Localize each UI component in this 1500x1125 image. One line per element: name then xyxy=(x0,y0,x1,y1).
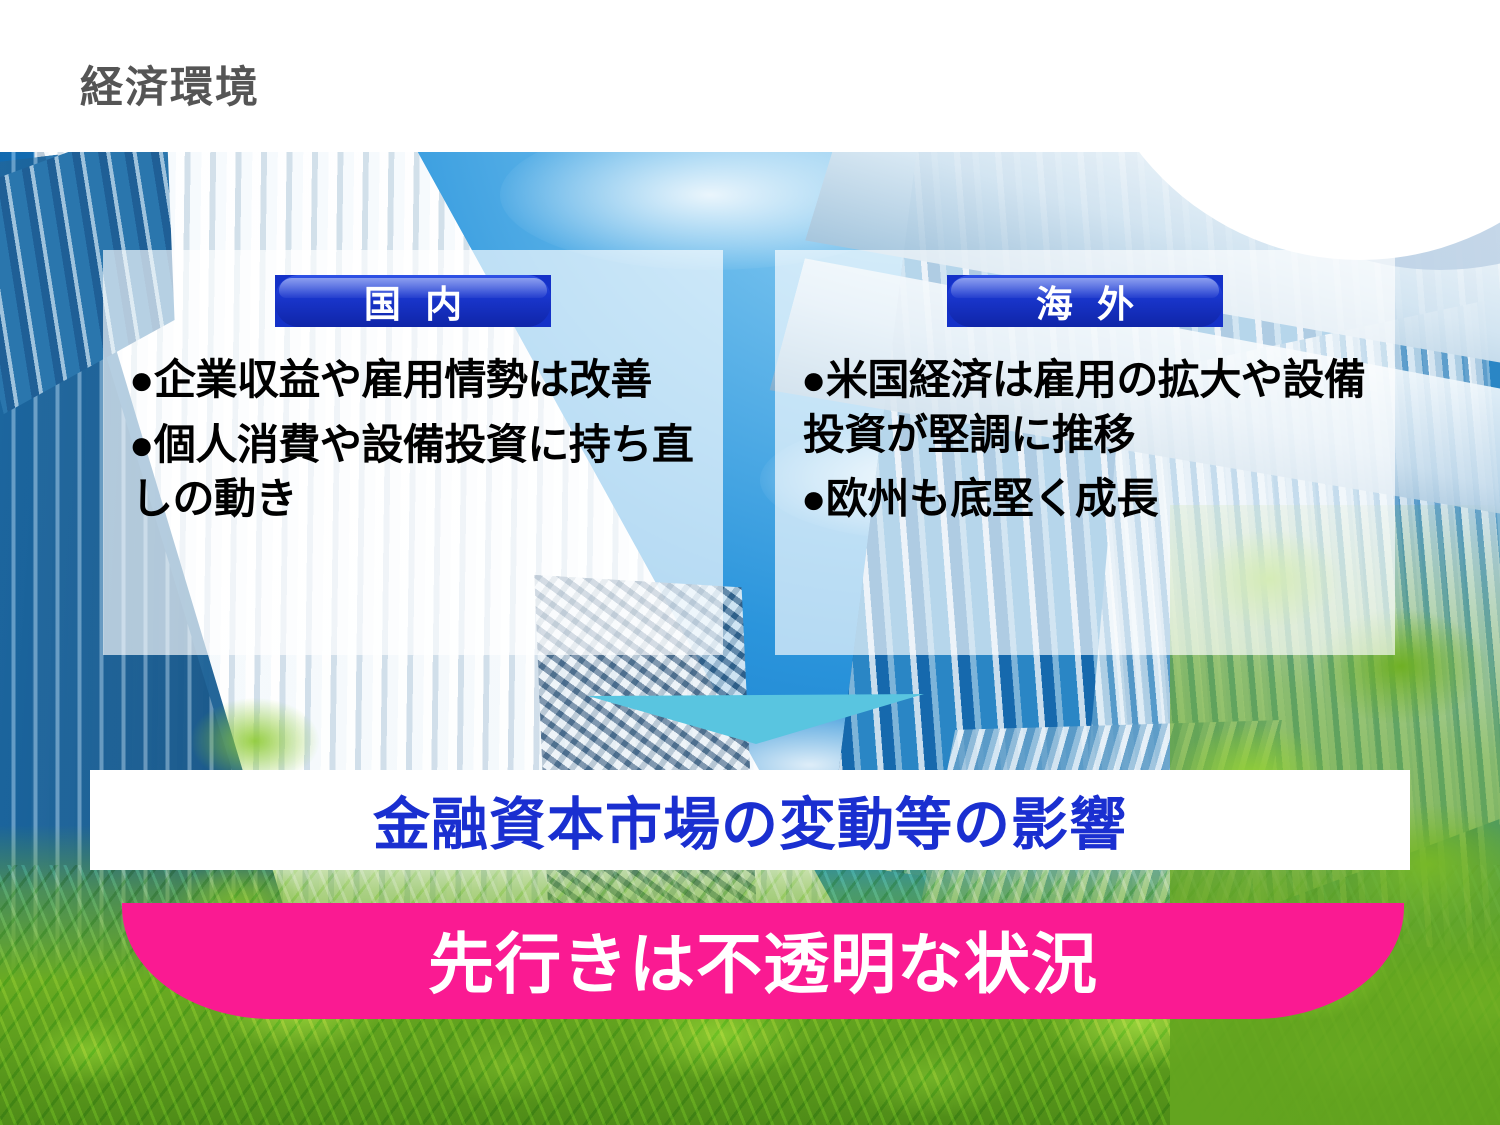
arrow-down-icon xyxy=(588,694,924,744)
bullet-item: ●企業収益や雇用情勢は改善 xyxy=(131,353,709,408)
cdg-circle-mark-icon xyxy=(1229,61,1281,113)
card-domestic-badge: 国 内 xyxy=(275,275,551,327)
card-overseas: 海 外 ●米国経済は雇用の拡大や設備投資が堅調に推移 ●欧州も底堅く成長 xyxy=(775,250,1395,655)
outlook-banner-text: 先行きは不透明な状況 xyxy=(428,911,1098,1007)
card-domestic-body: ●企業収益や雇用情勢は改善 ●個人消費や設備投資に持ち直しの動き xyxy=(131,353,709,537)
conclusion-banner: 金融資本市場の変動等の影響 xyxy=(90,770,1410,870)
bullet-item: ●個人消費や設備投資に持ち直しの動き xyxy=(131,418,709,527)
card-domestic: 国 内 ●企業収益や雇用情勢は改善 ●個人消費や設備投資に持ち直しの動き xyxy=(103,250,723,655)
card-overseas-body: ●米国経済は雇用の拡大や設備投資が堅調に推移 ●欧州も底堅く成長 xyxy=(803,353,1381,537)
cdg-wordmark: CDG xyxy=(1285,61,1420,113)
page-title: 経済環境 xyxy=(80,53,260,115)
cdg-logo: CDG xyxy=(1229,56,1420,118)
outlook-banner: 先行きは不透明な状況 xyxy=(122,903,1404,1019)
bullet-item: ●米国経済は雇用の拡大や設備投資が堅調に推移 xyxy=(803,353,1381,462)
conclusion-banner-text: 金融資本市場の変動等の影響 xyxy=(373,779,1127,861)
bullet-item: ●欧州も底堅く成長 xyxy=(803,472,1381,527)
slide-canvas: 経済環境 CDG 国 内 ●企業収益や雇用情勢は改善 ●個人消費や設備投資に持ち… xyxy=(0,0,1500,1125)
card-overseas-badge: 海 外 xyxy=(947,275,1223,327)
card-domestic-badge-label: 国 内 xyxy=(275,275,551,327)
card-overseas-badge-label: 海 外 xyxy=(947,275,1223,327)
